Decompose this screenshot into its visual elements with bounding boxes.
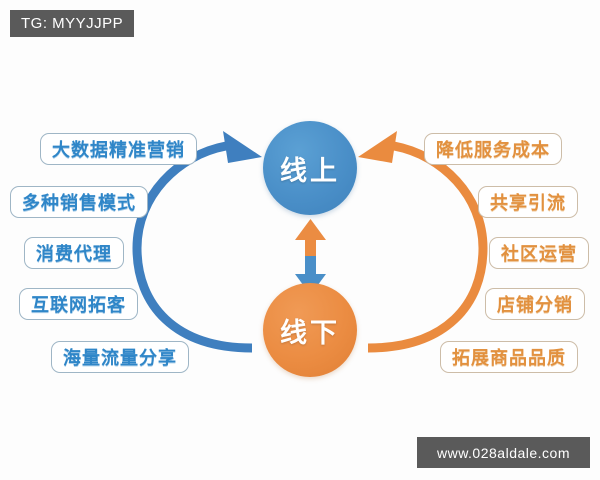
left-label-3[interactable]: 消费代理: [24, 237, 124, 269]
diagram-canvas: 线上 线下 大数据精准营销 多种销售模式 消费代理 互联网拓客 海量流量分享 降…: [0, 0, 600, 480]
right-arc-arrowhead-icon: [358, 131, 397, 163]
right-label-4[interactable]: 店铺分销: [485, 288, 585, 320]
right-label-2[interactable]: 共享引流: [478, 186, 578, 218]
left-arc-arrowhead-icon: [223, 131, 262, 163]
node-offline-label: 线下: [280, 311, 340, 350]
right-label-3[interactable]: 社区运营: [489, 237, 589, 269]
node-offline-circle[interactable]: 线下: [263, 283, 357, 377]
center-arrow-up-head-icon: [295, 219, 326, 240]
right-label-5[interactable]: 拓展商品品质: [440, 341, 578, 373]
node-online-circle[interactable]: 线上: [263, 121, 357, 215]
watermark-bottom-right: www.028aldale.com: [417, 437, 590, 468]
left-arc-blue: [137, 146, 252, 348]
node-online-label: 线上: [280, 149, 340, 188]
left-label-5[interactable]: 海量流量分享: [51, 341, 189, 373]
right-arc-orange: [368, 146, 483, 348]
right-label-1[interactable]: 降低服务成本: [424, 133, 562, 165]
left-label-1[interactable]: 大数据精准营销: [40, 133, 197, 165]
watermark-top-left: TG: MYYJJPP: [10, 10, 134, 37]
left-label-4[interactable]: 互联网拓客: [19, 288, 138, 320]
left-label-2[interactable]: 多种销售模式: [10, 186, 148, 218]
